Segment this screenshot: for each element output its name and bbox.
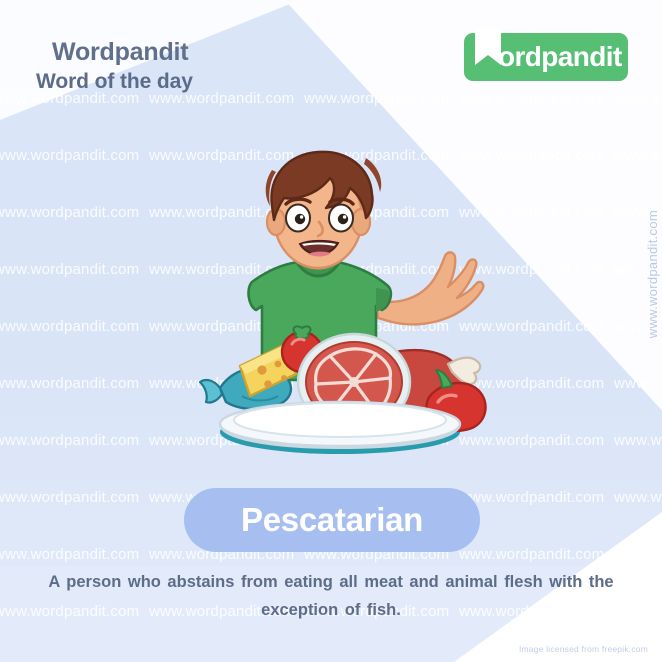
watermark-vertical: www.wordpandit.com — [645, 210, 660, 338]
serving-plate — [220, 402, 460, 448]
arm-right — [376, 252, 483, 324]
page-title: Wordpandit — [52, 38, 188, 67]
pescatarian-illustration — [180, 130, 510, 480]
logo-text: ordpandit — [498, 41, 622, 73]
word-definition: A person who abstains from eating all me… — [28, 568, 634, 624]
page-subtitle: Word of the day — [36, 70, 193, 94]
wordpandit-logo[interactable]: ordpandit — [464, 33, 628, 81]
word-term: Pescatarian — [241, 501, 423, 539]
word-of-the-day-card: www.wordpandit.comwww.wordpandit.comwww.… — [0, 0, 662, 662]
image-credit: Image licensed from freepik.com — [519, 644, 648, 654]
word-badge: Pescatarian — [184, 488, 480, 552]
